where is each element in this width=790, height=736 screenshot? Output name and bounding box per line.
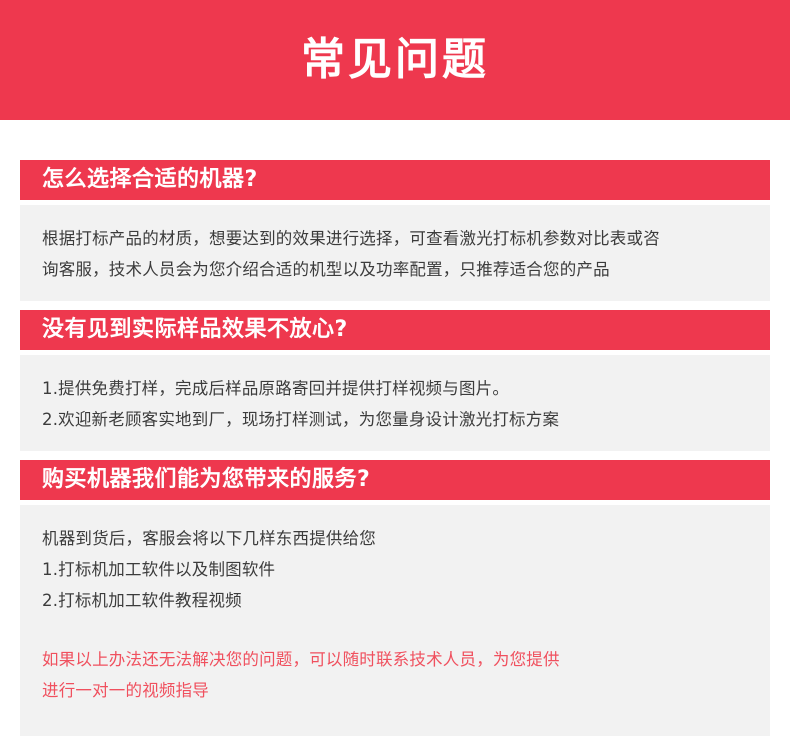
faq-answer-2: 1.提供免费打样，完成后样品原路寄回并提供打样视频与图片。 2.欢迎新老顾客实地… — [20, 355, 770, 451]
answer-line: 机器到货后，客服会将以下几样东西提供给您 — [42, 523, 730, 554]
faq-item-separator — [20, 451, 770, 460]
faq-item-separator — [20, 301, 770, 310]
faq-item-1: 怎么选择合适的机器? 根据打标产品的材质，想要达到的效果进行选择，可查看激光打标… — [20, 160, 770, 301]
faq-list: 怎么选择合适的机器? 根据打标产品的材质，想要达到的效果进行选择，可查看激光打标… — [20, 160, 770, 736]
page-banner: 常见问题 — [0, 0, 790, 120]
faq-question-3[interactable]: 购买机器我们能为您带来的服务? — [20, 460, 770, 500]
faq-item-3: 购买机器我们能为您带来的服务? 机器到货后，客服会将以下几样东西提供给您 1.打… — [20, 460, 770, 736]
faq-question-1[interactable]: 怎么选择合适的机器? — [20, 160, 770, 200]
closing-note: 如果以上办法还无法解决您的问题，可以随时联系技术人员，为您提供 进行一对一的视频… — [20, 632, 770, 736]
answer-line: 询客服，技术人员会为您介绍合适的机型以及功率配置，只推荐适合您的产品 — [42, 254, 730, 285]
answer-line: 1.提供免费打样，完成后样品原路寄回并提供打样视频与图片。 — [42, 373, 730, 404]
answer-line: 2.打标机加工软件教程视频 — [42, 585, 730, 616]
answer-line: 2.欢迎新老顾客实地到厂，现场打样测试，为您量身设计激光打标方案 — [42, 404, 730, 435]
faq-question-2[interactable]: 没有见到实际样品效果不放心? — [20, 310, 770, 350]
answer-line: 1.打标机加工软件以及制图软件 — [42, 554, 730, 585]
faq-page: 常见问题 怎么选择合适的机器? 根据打标产品的材质，想要达到的效果进行选择，可查… — [0, 0, 790, 725]
answer-line: 根据打标产品的材质，想要达到的效果进行选择，可查看激光打标机参数对比表或咨 — [42, 223, 730, 254]
page-title: 常见问题 — [301, 38, 489, 82]
closing-note-line: 进行一对一的视频指导 — [42, 675, 730, 706]
faq-item-2: 没有见到实际样品效果不放心? 1.提供免费打样，完成后样品原路寄回并提供打样视频… — [20, 310, 770, 451]
closing-note-line: 如果以上办法还无法解决您的问题，可以随时联系技术人员，为您提供 — [42, 644, 730, 675]
faq-answer-3: 机器到货后，客服会将以下几样东西提供给您 1.打标机加工软件以及制图软件 2.打… — [20, 505, 770, 632]
faq-answer-1: 根据打标产品的材质，想要达到的效果进行选择，可查看激光打标机参数对比表或咨 询客… — [20, 205, 770, 301]
